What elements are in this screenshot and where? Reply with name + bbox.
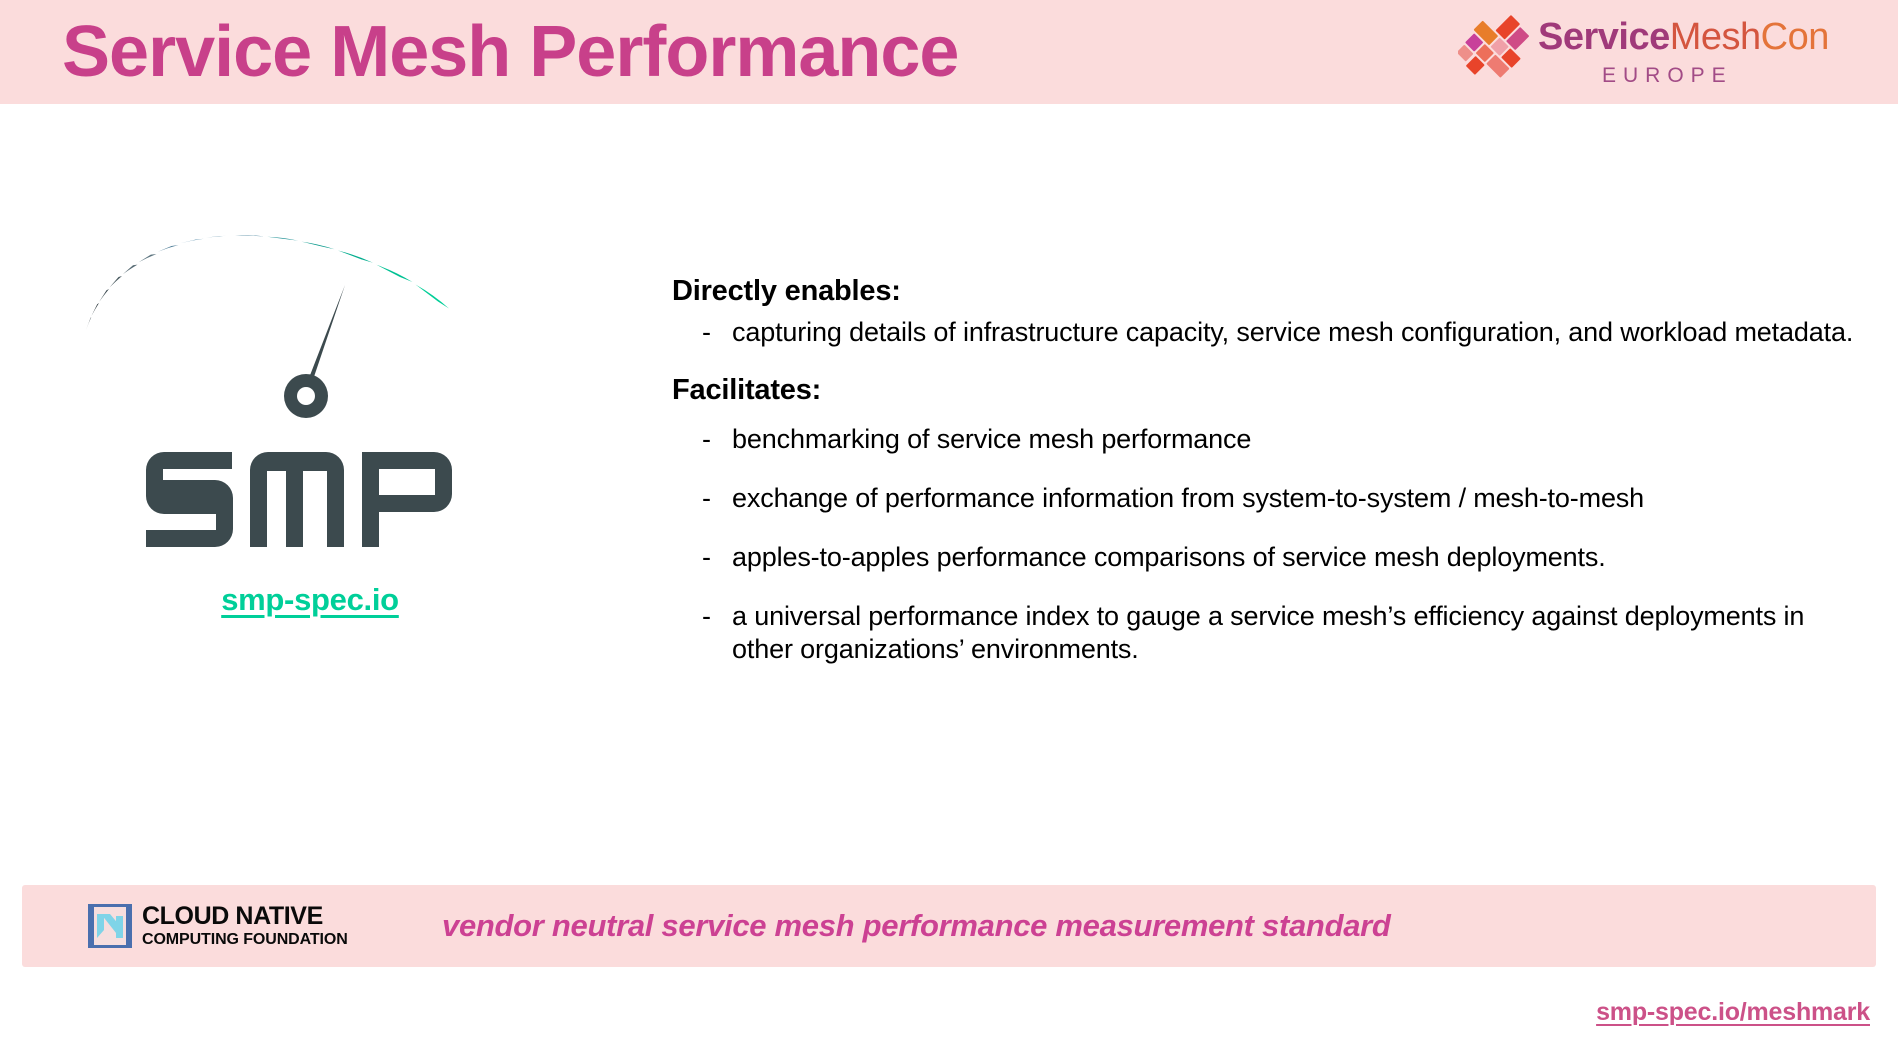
- list-item-text: capturing details of infrastructure capa…: [732, 316, 1862, 349]
- meshmark-link[interactable]: smp-spec.io/meshmark: [1596, 998, 1870, 1027]
- wordmark-service: Service: [1538, 16, 1670, 58]
- wordmark-mesh: Mesh: [1670, 16, 1761, 58]
- gauge-segments: [86, 235, 449, 330]
- speedometer-gauge-icon: [80, 190, 540, 440]
- list-item-text: a universal performance index to gauge a…: [732, 600, 1862, 666]
- facilitates-list: - benchmarking of service mesh performan…: [672, 423, 1862, 666]
- cncf-line-1: CLOUD NATIVE: [142, 903, 352, 930]
- smp-wordmark: [142, 438, 462, 548]
- list-item-text: apples-to-apples performance comparisons…: [732, 541, 1862, 574]
- bullet-marker: -: [672, 600, 732, 633]
- servicemeshcon-diamond-mark: [1458, 10, 1530, 82]
- servicemeshcon-logo: ServiceMeshCon EUROPE: [1450, 6, 1870, 102]
- list-item: - capturing details of infrastructure ca…: [672, 316, 1862, 349]
- servicemeshcon-subtitle: EUROPE: [1602, 64, 1733, 88]
- footer-tagline: vendor neutral service mesh performance …: [442, 905, 1391, 947]
- heading-directly-enables: Directly enables:: [672, 272, 1862, 310]
- gauge-needle: [284, 285, 345, 418]
- smp-spec-link[interactable]: smp-spec.io: [70, 582, 550, 618]
- bullet-marker: -: [672, 541, 732, 574]
- list-item: - apples-to-apples performance compariso…: [672, 541, 1862, 574]
- content-column: Directly enables: - capturing details of…: [672, 272, 1862, 692]
- bullet-marker: -: [672, 423, 732, 456]
- list-item-text: benchmarking of service mesh performance: [732, 423, 1862, 456]
- smp-branding-column: smp-spec.io: [70, 190, 550, 750]
- footer-band: CLOUD NATIVE COMPUTING FOUNDATION vendor…: [22, 885, 1876, 967]
- list-item: - a universal performance index to gauge…: [672, 600, 1862, 666]
- cncf-wordmark: CLOUD NATIVE COMPUTING FOUNDATION: [142, 903, 352, 950]
- facilitates-group: Facilitates: - benchmarking of service m…: [672, 371, 1862, 666]
- bullet-marker: -: [672, 316, 732, 349]
- bullet-marker: -: [672, 482, 732, 515]
- wordmark-con: Con: [1761, 16, 1829, 58]
- directly-enables-group: Directly enables: - capturing details of…: [672, 272, 1862, 349]
- cncf-logo: CLOUD NATIVE COMPUTING FOUNDATION: [88, 902, 348, 952]
- heading-facilitates: Facilitates:: [672, 371, 1862, 409]
- list-item-text: exchange of performance information from…: [732, 482, 1862, 515]
- servicemeshcon-wordmark: ServiceMeshCon: [1538, 14, 1829, 60]
- page-title: Service Mesh Performance: [62, 6, 958, 98]
- cncf-line-2: COMPUTING FOUNDATION: [142, 930, 352, 950]
- list-item: - benchmarking of service mesh performan…: [672, 423, 1862, 456]
- cncf-logo-mark: [88, 904, 132, 948]
- list-item: - exchange of performance information fr…: [672, 482, 1862, 515]
- directly-enables-list: - capturing details of infrastructure ca…: [672, 316, 1862, 349]
